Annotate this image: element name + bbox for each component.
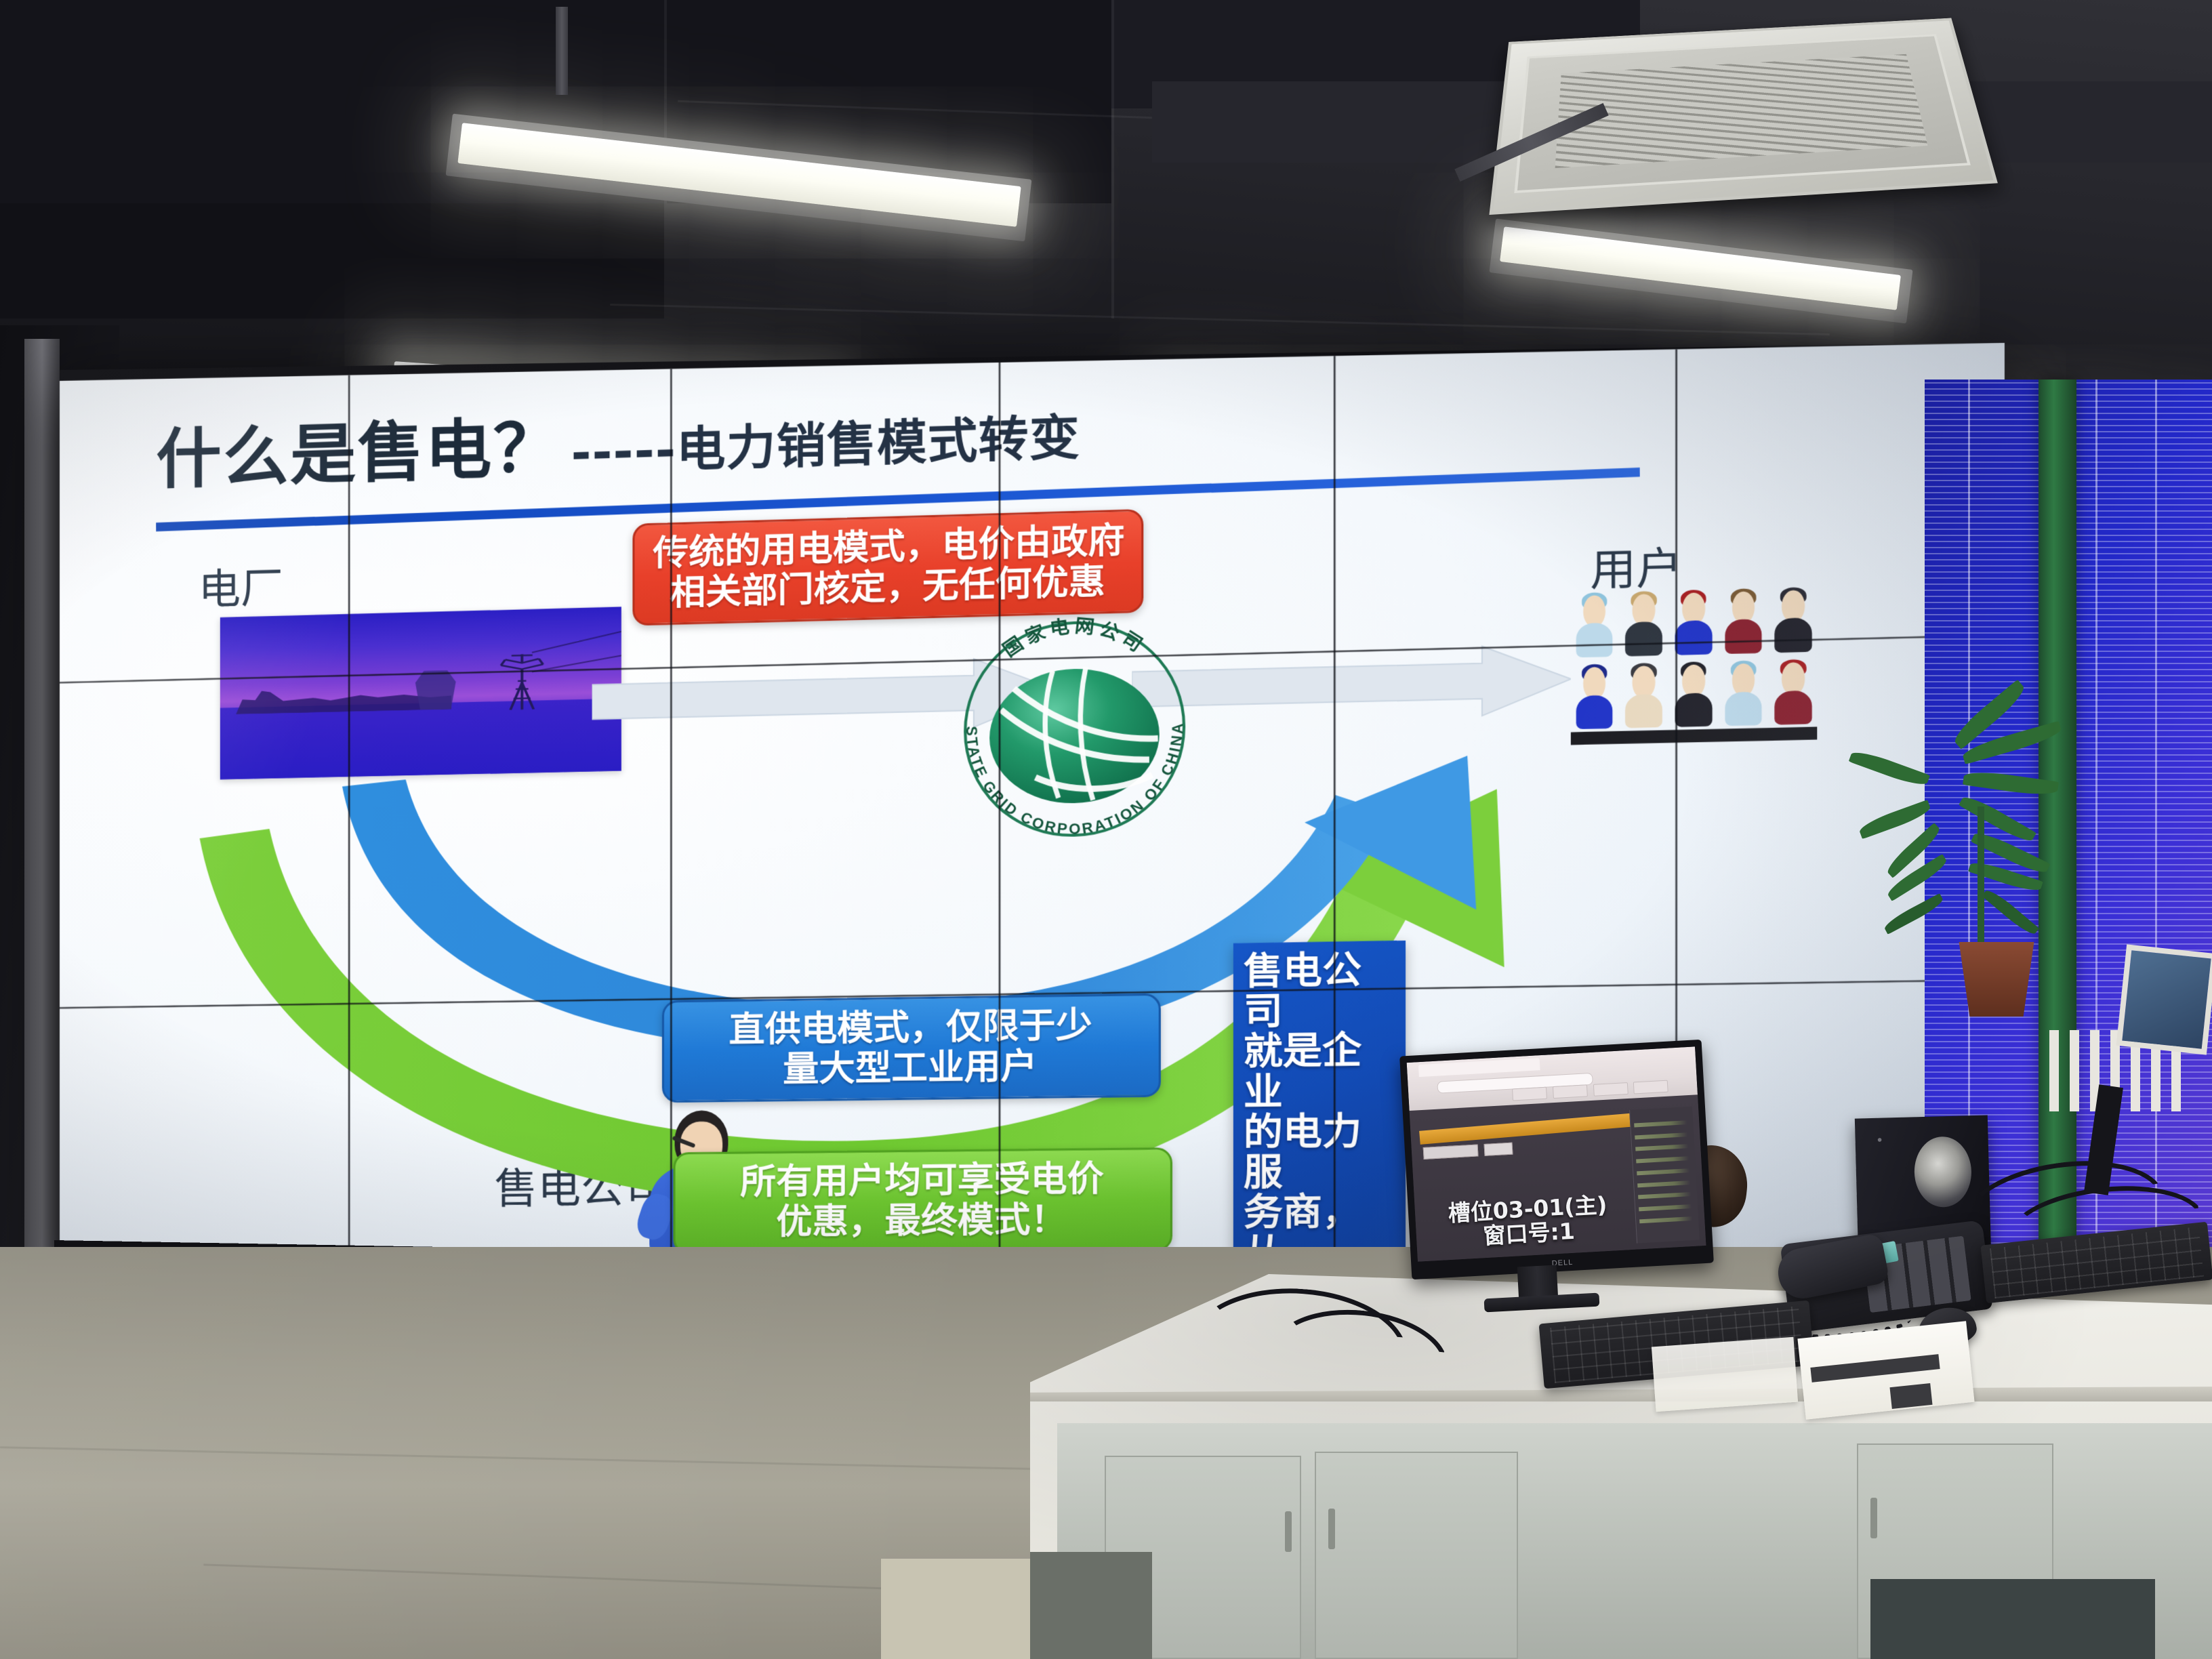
avatar bbox=[1769, 584, 1817, 656]
ceiling-conduit bbox=[556, 7, 568, 95]
toolbar-button-3[interactable] bbox=[1593, 1082, 1628, 1097]
slide-subtitle: -----电力销售模式转变 bbox=[571, 412, 1080, 479]
desktop-monitor[interactable]: 槽位03-01(主) 窗口号:1 DELL bbox=[1399, 1040, 1714, 1279]
desk-side-shadow bbox=[1030, 1552, 1152, 1659]
callout-navy-line-3: 的电力服 bbox=[1244, 1111, 1398, 1193]
search-input[interactable] bbox=[1423, 1145, 1479, 1160]
ceiling-air-conditioner bbox=[1489, 18, 1997, 215]
speaker-brand-label: ● bbox=[1877, 1134, 1883, 1145]
label-power-plant: 电厂 bbox=[199, 553, 283, 617]
callout-navy-line-2: 就是企业 bbox=[1244, 1030, 1398, 1113]
paper-printed-bar-2 bbox=[1889, 1383, 1932, 1409]
ceiling-panel-dark-left2 bbox=[0, 203, 664, 319]
plant-stem bbox=[1978, 806, 1984, 956]
plant-leaf bbox=[1963, 769, 2059, 798]
avatar bbox=[1769, 657, 1817, 728]
cabinet-door-2[interactable] bbox=[1315, 1452, 1518, 1659]
avatar bbox=[1670, 586, 1717, 657]
avatar bbox=[1719, 657, 1767, 729]
search-button[interactable] bbox=[1483, 1143, 1513, 1156]
callout-green-line-2: 优惠，最终模式！ bbox=[694, 1200, 1151, 1244]
device-tree-panel[interactable] bbox=[1629, 1107, 1700, 1244]
slide-title-row: 什么是售电？ -----电力销售模式转变 bbox=[156, 390, 1254, 494]
avatar bbox=[1620, 588, 1668, 659]
toolbar-button-1[interactable] bbox=[1512, 1086, 1547, 1101]
callout-direct-supply-mode: 直供电模式，仅限于少 量大型工业用户 bbox=[662, 994, 1161, 1103]
callout-traditional-mode: 传统的用电模式，电价由政府 相关部门核定，无任何优惠 bbox=[632, 509, 1143, 626]
callout-green-line-1: 所有用户均可享受电价 bbox=[694, 1159, 1151, 1204]
photo-power-line-1 bbox=[532, 620, 621, 653]
toolbar-button-2[interactable] bbox=[1553, 1084, 1588, 1099]
screenshot-root: 什么是售电？ -----电力销售模式转变 电厂 用户 售电公司 bbox=[0, 0, 2212, 1659]
wall-mounted-screen[interactable] bbox=[2116, 944, 2212, 1054]
avatar bbox=[1719, 586, 1767, 657]
svg-text:国家电网公司: 国家电网公司 bbox=[999, 613, 1150, 661]
blind-slat-4 bbox=[2155, 380, 2157, 1274]
progress-bar-orange bbox=[1419, 1112, 1645, 1145]
avatar bbox=[1620, 660, 1668, 731]
transmission-tower-icon bbox=[496, 648, 548, 712]
callout-blue-line-1: 直供电模式，仅限于少 bbox=[682, 1005, 1140, 1052]
avatar bbox=[1670, 659, 1717, 730]
cabinet-handle-2[interactable] bbox=[1328, 1509, 1335, 1549]
ceiling-seam-3 bbox=[1111, 0, 1114, 319]
chair-under-desk bbox=[1870, 1579, 2155, 1659]
paper-sheet-under-keyboard bbox=[1652, 1337, 1798, 1412]
user-avatar-grid bbox=[1571, 584, 1817, 733]
slide-title: 什么是售电？ bbox=[156, 413, 561, 494]
callout-final-mode: 所有用户均可享受电价 优惠，最终模式！ bbox=[673, 1147, 1172, 1254]
cabinet-handle-1[interactable] bbox=[1285, 1511, 1292, 1552]
avatar bbox=[1571, 589, 1618, 660]
toolbar-button-4[interactable] bbox=[1633, 1080, 1668, 1094]
browser-tab[interactable] bbox=[1418, 1058, 1540, 1077]
ac-grille bbox=[1555, 54, 1927, 168]
power-plant-photo bbox=[220, 607, 621, 779]
monitor-bezel: 槽位03-01(主) 窗口号:1 DELL bbox=[1399, 1040, 1714, 1279]
plant-leaf bbox=[1982, 886, 2039, 937]
monitor-screen[interactable]: 槽位03-01(主) 窗口号:1 bbox=[1407, 1046, 1706, 1261]
cabinet-handle-3[interactable] bbox=[1870, 1498, 1877, 1538]
callout-navy-line-1: 售电公司 bbox=[1244, 949, 1398, 1031]
callout-blue-line-2: 量大型工业用户 bbox=[682, 1046, 1140, 1092]
plant-leaf bbox=[1959, 792, 2036, 846]
avatar bbox=[1571, 661, 1618, 733]
